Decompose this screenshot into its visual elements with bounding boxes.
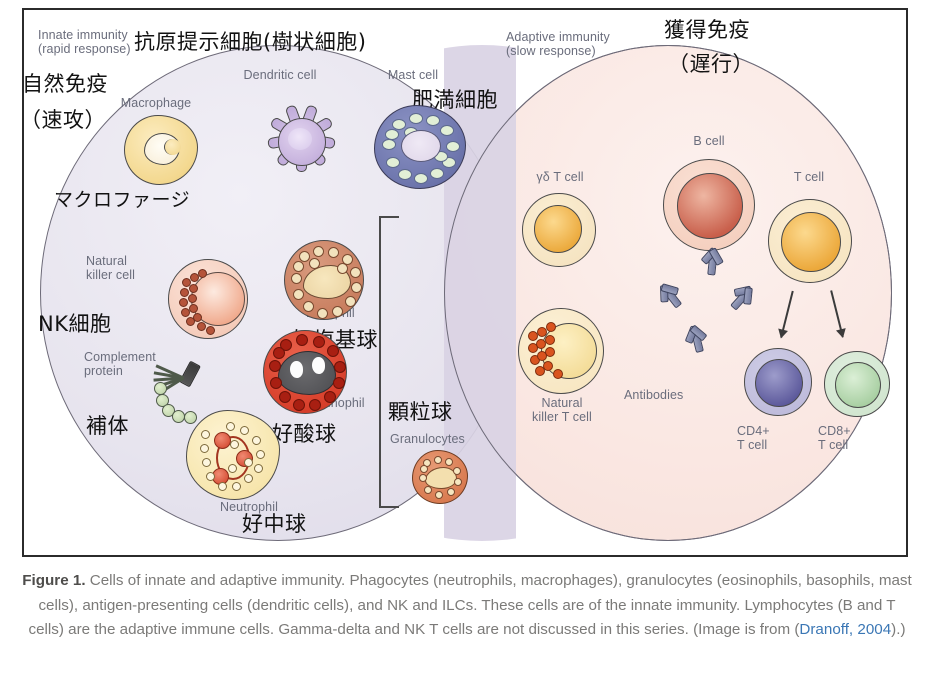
adaptive-immunity-english-label: Adaptive immunity (slow response) (506, 30, 610, 59)
granulocytes-english-label: Granulocytes (390, 432, 465, 446)
citation-link[interactable]: Dranoff, 2004 (799, 621, 891, 638)
b-cell-english-label: B cell (649, 134, 769, 148)
innate-immunity-japanese-label-1: 自然免疫 (22, 72, 108, 96)
t-cell-illustration (768, 199, 852, 283)
natural-killer-t-cell-illustration (518, 308, 604, 394)
granulocytes-bracket (379, 216, 399, 508)
caption-text-part-2: ).) (891, 621, 905, 638)
macrophage-japanese-label: マクロファージ (54, 190, 190, 212)
granulocyte-illustration (412, 450, 468, 504)
adaptive-immunity-japanese-label-2: （遅行） (668, 52, 754, 76)
b-cell-illustration (663, 159, 755, 251)
antibody-icon (694, 241, 727, 276)
mast-cell-illustration (374, 105, 466, 189)
natural-killer-cell-japanese-label: NK細胞 (38, 312, 111, 336)
basophil-illustration (284, 240, 364, 320)
neutrophil-illustration (186, 410, 280, 500)
natural-killer-t-cell-label: Natural killer T cell (506, 396, 618, 425)
figure-page: Innate immunity (rapid response) 自然免疫 （速… (0, 0, 933, 697)
complement-protein-japanese-label: 補体 (86, 414, 129, 438)
macrophage-english-label: Macrophage (96, 96, 216, 110)
natural-killer-cell-english-label: Natural killer cell (86, 254, 135, 283)
cd4-t-cell-illustration (744, 348, 812, 416)
cd4-t-cell-label: CD4+ T cell (737, 424, 770, 453)
eosinophil-japanese-label: 好酸球 (272, 422, 337, 446)
dendritic-cell-japanese-label: 抗原提示細胞(樹状細胞) (134, 30, 366, 54)
antibodies-english-label: Antibodies (624, 388, 683, 402)
innate-immunity-english-label: Innate immunity (rapid response) (38, 28, 131, 57)
granulocytes-japanese-label: 顆粒球 (388, 400, 453, 424)
figure-image-panel: Innate immunity (rapid response) 自然免疫 （速… (22, 8, 908, 557)
gamma-delta-t-cell-illustration (522, 193, 596, 267)
macrophage-illustration (124, 115, 198, 185)
mast-cell-english-label: Mast cell (358, 68, 468, 82)
cd8-t-cell-illustration (824, 351, 890, 417)
caption-text-part-1: Cells of innate and adaptive immunity. P… (28, 572, 911, 638)
innate-immunity-japanese-label-2: （速攻） (22, 108, 106, 132)
neutrophil-japanese-label: 好中球 (242, 512, 307, 536)
t-cell-english-label: T cell (754, 170, 864, 184)
eosinophil-illustration (263, 330, 347, 414)
figure-number: Figure 1. (22, 572, 85, 589)
dendritic-cell-english-label: Dendritic cell (220, 68, 340, 82)
figure-caption: Figure 1. Cells of innate and adaptive i… (22, 569, 912, 643)
gamma-delta-t-cell-label: γδ T cell (510, 170, 610, 184)
venn-diagram: Innate immunity (rapid response) 自然免疫 （速… (24, 10, 906, 555)
adaptive-immunity-japanese-label-1: 獲得免疫 (664, 18, 750, 42)
natural-killer-cell-illustration (168, 259, 248, 339)
dendritic-cell-illustration (252, 88, 348, 192)
cd8-t-cell-label: CD8+ T cell (818, 424, 851, 453)
